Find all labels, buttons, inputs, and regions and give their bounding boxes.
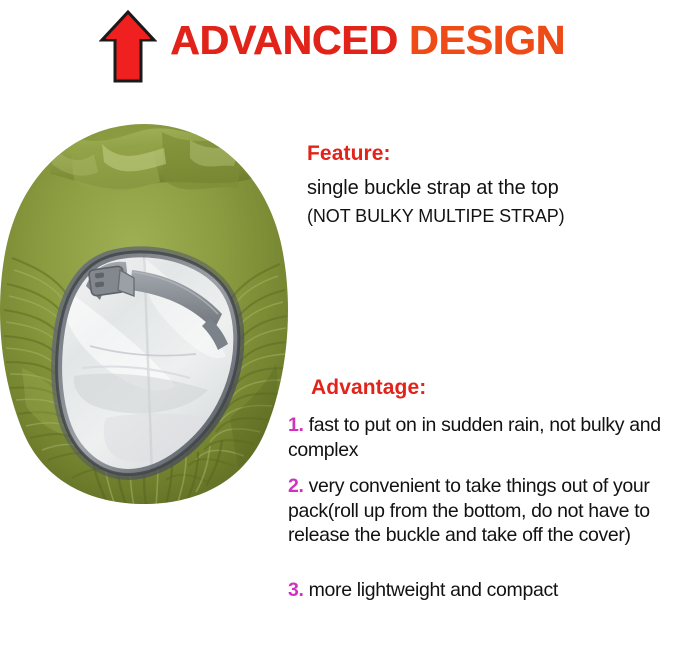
header-banner: ADVANCED DESIGN xyxy=(0,0,679,100)
page-title-part-2: DESIGN xyxy=(409,17,565,63)
up-arrow-icon xyxy=(99,10,157,84)
feature-section: Feature: single buckle strap at the top … xyxy=(307,140,673,229)
page-title-part-1: ADVANCED xyxy=(170,17,398,63)
advertisement-page: ADVANCED DESIGN xyxy=(0,0,679,645)
advantage-item-number: 2. xyxy=(288,475,304,497)
advantage-list-item: 3. more lightweight and compact xyxy=(288,578,679,603)
advantage-item-number: 3. xyxy=(288,579,304,601)
feature-description: single buckle strap at the top xyxy=(307,173,673,203)
advantage-list-item: 1. fast to put on in sudden rain, not bu… xyxy=(288,413,679,462)
product-image-rain-cover xyxy=(0,118,296,508)
feature-note: (NOT BULKY MULTIPE STRAP) xyxy=(307,203,673,229)
advantage-list-item: 2. very convenient to take things out of… xyxy=(288,474,679,548)
advantage-heading: Advantage: xyxy=(311,374,679,401)
advantage-item-text: more lightweight and compact xyxy=(309,579,558,601)
advantage-section: Advantage: 1. fast to put on in sudden r… xyxy=(288,374,679,602)
advantage-item-number: 1. xyxy=(288,414,304,436)
feature-heading: Feature: xyxy=(307,140,673,168)
advantage-item-text: very convenient to take things out of yo… xyxy=(288,475,650,546)
page-title: ADVANCED DESIGN xyxy=(170,16,565,64)
advantage-item-text: fast to put on in sudden rain, not bulky… xyxy=(288,414,661,461)
